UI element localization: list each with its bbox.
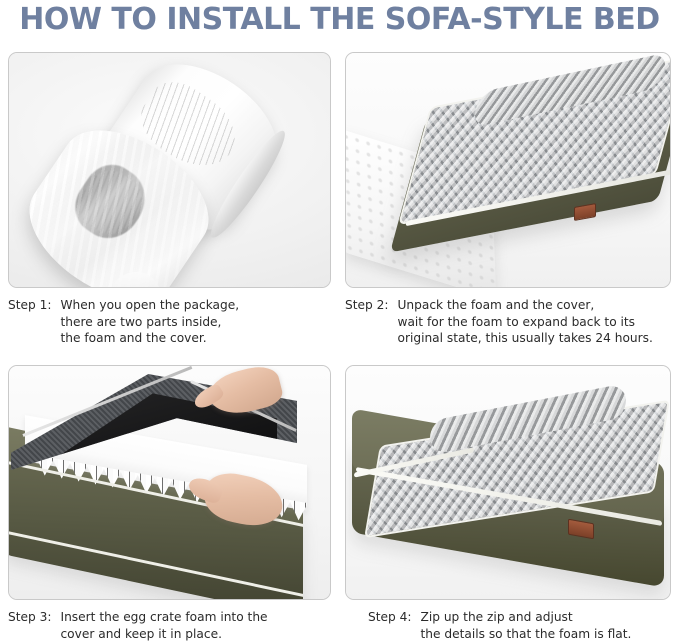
step-card-1: Step 1: When you open the package, there… (8, 52, 331, 347)
step-3-label: Step 3: (8, 609, 60, 642)
steps-grid: Step 1: When you open the package, there… (0, 0, 679, 644)
step-4-caption: Step 4: Zip up the zip and adjust the de… (345, 609, 671, 642)
step-card-3: Step 3: Insert the egg crate foam into t… (8, 365, 331, 642)
step-1-caption: Step 1: When you open the package, there… (8, 297, 331, 347)
step-2-text: Unpack the foam and the cover, wait for … (397, 297, 671, 347)
step-3-caption: Step 3: Insert the egg crate foam into t… (8, 609, 331, 642)
step-2-label: Step 2: (345, 297, 397, 347)
vacuum-packed-rolls-photo (9, 53, 330, 287)
inserting-foam-photo (9, 366, 330, 599)
finished-bed-photo (346, 366, 670, 599)
step-3-photo (8, 365, 331, 600)
step-1-text: When you open the package, there are two… (60, 297, 331, 347)
foam-and-cover-photo (346, 53, 670, 287)
step-2-caption: Step 2: Unpack the foam and the cover, w… (345, 297, 671, 347)
step-2-photo (345, 52, 671, 288)
step-1-photo (8, 52, 331, 288)
step-3-text: Insert the egg crate foam into the cover… (60, 609, 331, 642)
step-1-label: Step 1: (8, 297, 60, 347)
step-4-text: Zip up the zip and adjust the details so… (420, 609, 671, 642)
step-4-photo (345, 365, 671, 600)
step-4-label: Step 4: (368, 609, 420, 642)
step-card-4: Step 4: Zip up the zip and adjust the de… (345, 365, 671, 642)
step-card-2: Step 2: Unpack the foam and the cover, w… (345, 52, 671, 347)
